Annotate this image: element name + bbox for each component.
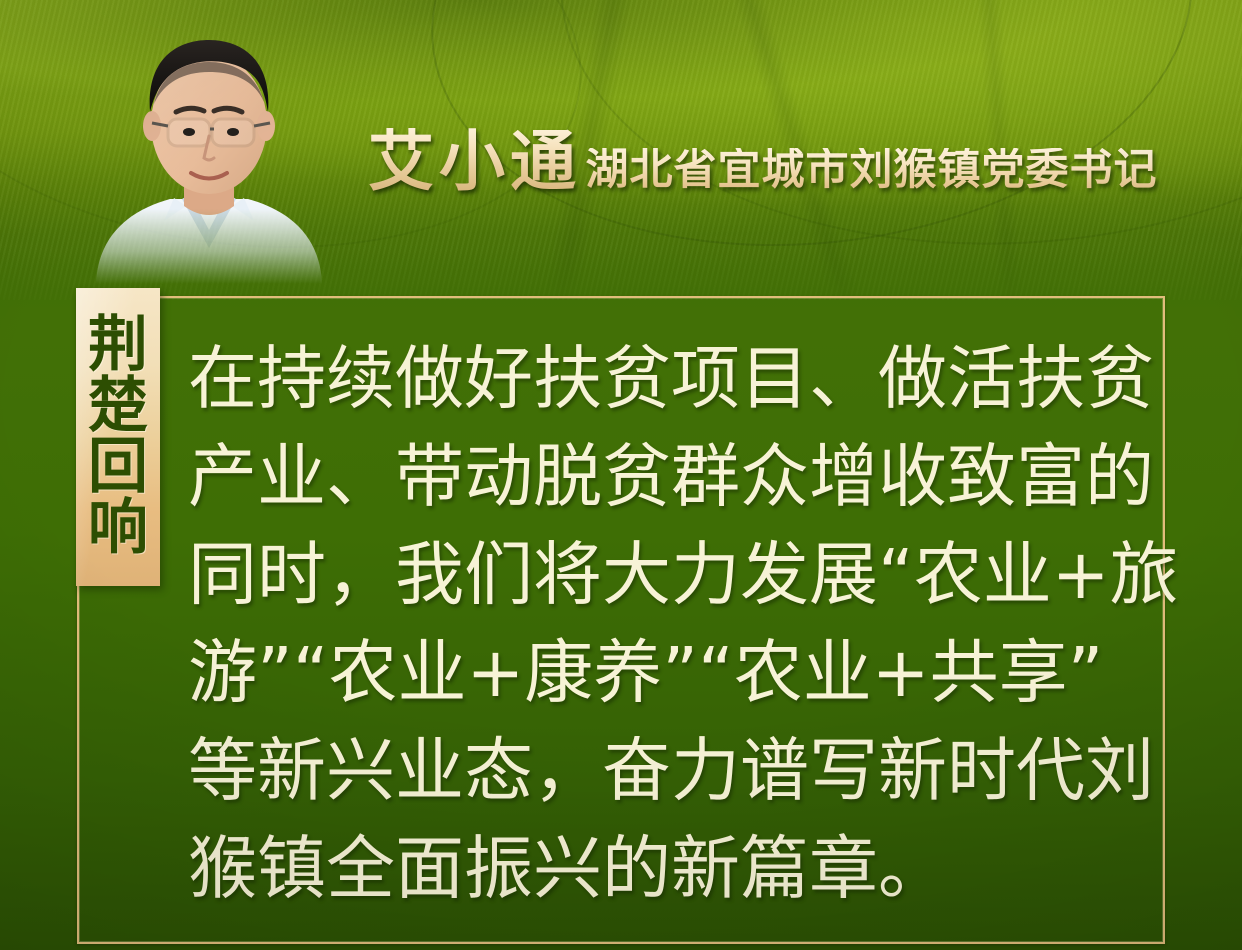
person-name: 艾小通 <box>368 128 581 194</box>
banner-char-1: 荆 <box>88 316 148 375</box>
name-block: 艾小通 湖北省宜城市刘猴镇党委书记 <box>368 128 1157 194</box>
quote-line: 游”“农业+康养”“农业+共享” <box>188 624 1148 722</box>
quote-text: 在持续做好扶贫项目、做活扶贫 产业、带动脱贫群众增收致富的 同时，我们将大力发展… <box>188 330 1148 918</box>
person-title: 湖北省宜城市刘猴镇党委书记 <box>585 148 1157 193</box>
quote-line: 等新兴业态，奋力谱写新时代刘 <box>188 722 1148 820</box>
banner-char-2: 楚 <box>88 377 148 436</box>
poster-canvas: 艾小通 湖北省宜城市刘猴镇党委书记 荆 楚 回 响 在持续做好扶贫项目、做活扶贫… <box>0 0 1242 950</box>
quote-line: 猴镇全面振兴的新篇章。 <box>188 820 1148 918</box>
quote-line: 在持续做好扶贫项目、做活扶贫 <box>188 330 1148 428</box>
quote-line: 同时，我们将大力发展“农业+旅 <box>188 526 1148 624</box>
banner-char-3: 回 <box>88 438 148 497</box>
banner-char-4: 响 <box>88 499 148 558</box>
section-banner: 荆 楚 回 响 <box>76 288 160 586</box>
quote-line: 产业、带动脱贫群众增收致富的 <box>188 428 1148 526</box>
avatar <box>78 16 340 284</box>
